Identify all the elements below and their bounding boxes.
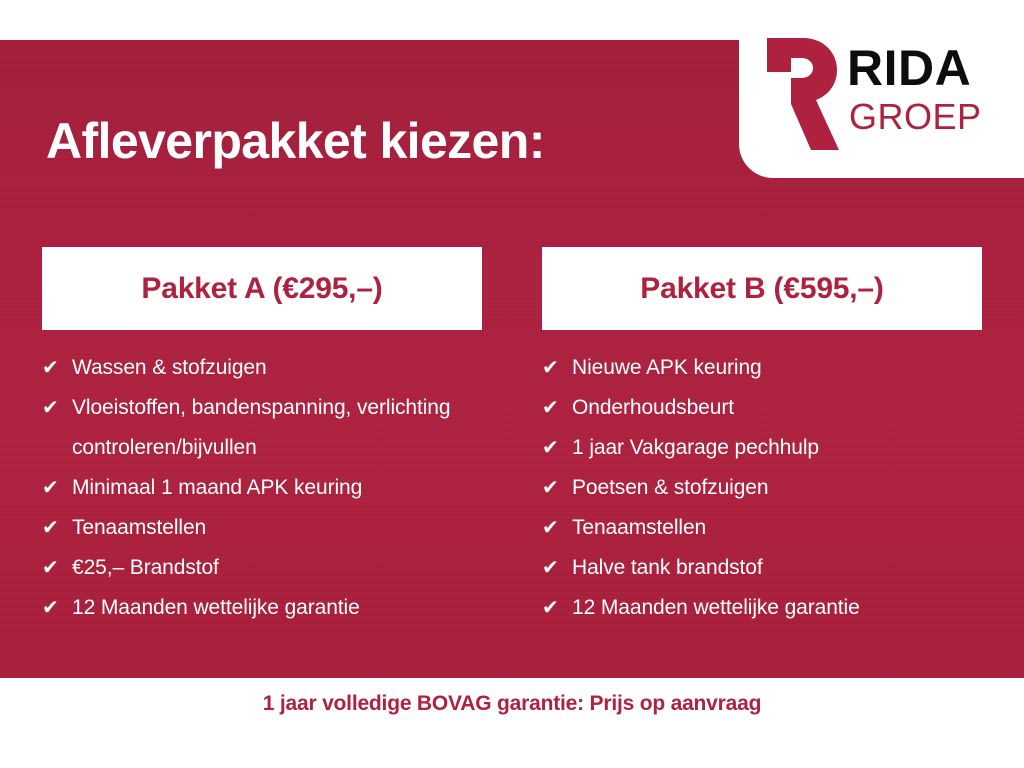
list-item: ✔ Tenaamstellen xyxy=(542,508,982,548)
rida-r-mark-icon xyxy=(753,32,839,150)
package-b-feature-list: ✔ Nieuwe APK keuring ✔ Onderhoudsbeurt ✔… xyxy=(542,330,982,628)
feature-label: Poetsen & stofzuigen xyxy=(572,468,982,508)
list-item: ✔ Poetsen & stofzuigen xyxy=(542,468,982,508)
footer-note: 1 jaar volledige BOVAG garantie: Prijs o… xyxy=(0,692,1024,716)
list-item: ✔ Vloeistoffen, bandenspanning, verlicht… xyxy=(42,388,482,468)
feature-label: Tenaamstellen xyxy=(72,508,482,548)
list-item: ✔ Halve tank brandstof xyxy=(542,548,982,588)
list-item: ✔ 12 Maanden wettelijke garantie xyxy=(542,588,982,628)
check-icon: ✔ xyxy=(542,348,572,388)
brand-wordmark: RIDA GROEP xyxy=(847,43,982,135)
package-b-header: Pakket B (€595,–) xyxy=(542,247,982,330)
footer-band: 1 jaar volledige BOVAG garantie: Prijs o… xyxy=(0,678,1024,768)
package-card-b: Pakket B (€595,–) ✔ Nieuwe APK keuring ✔… xyxy=(542,247,982,628)
list-item: ✔ 1 jaar Vakgarage pechhulp xyxy=(542,428,982,468)
feature-label: Nieuwe APK keuring xyxy=(572,348,982,388)
list-item: ✔ Minimaal 1 maand APK keuring xyxy=(42,468,482,508)
feature-label: Vloeistoffen, bandenspanning, verlichtin… xyxy=(72,388,482,468)
check-icon: ✔ xyxy=(42,468,72,508)
brand-name-secondary: GROEP xyxy=(849,99,982,135)
feature-label: Halve tank brandstof xyxy=(572,548,982,588)
list-item: ✔ Wassen & stofzuigen xyxy=(42,348,482,388)
feature-label: 12 Maanden wettelijke garantie xyxy=(72,588,482,628)
list-item: ✔ Tenaamstellen xyxy=(42,508,482,548)
check-icon: ✔ xyxy=(42,548,72,588)
check-icon: ✔ xyxy=(42,588,72,628)
feature-label: Tenaamstellen xyxy=(572,508,982,548)
feature-label: Wassen & stofzuigen xyxy=(72,348,482,388)
slide-root: RIDA GROEP Afleverpakket kiezen: Pakket … xyxy=(0,0,1024,768)
check-icon: ✔ xyxy=(542,428,572,468)
package-a-header: Pakket A (€295,–) xyxy=(42,247,482,330)
feature-label: 1 jaar Vakgarage pechhulp xyxy=(572,428,982,468)
list-item: ✔ Onderhoudsbeurt xyxy=(542,388,982,428)
check-icon: ✔ xyxy=(42,348,72,388)
check-icon: ✔ xyxy=(542,548,572,588)
check-icon: ✔ xyxy=(542,588,572,628)
feature-label: Minimaal 1 maand APK keuring xyxy=(72,468,482,508)
list-item: ✔ 12 Maanden wettelijke garantie xyxy=(42,588,482,628)
check-icon: ✔ xyxy=(542,508,572,548)
package-a-title: Pakket A (€295,–) xyxy=(141,272,382,306)
check-icon: ✔ xyxy=(542,388,572,428)
brand-name-primary: RIDA xyxy=(847,43,982,93)
brand-logo-panel: RIDA GROEP xyxy=(739,0,1024,178)
page-title: Afleverpakket kiezen: xyxy=(46,112,545,170)
feature-label: 12 Maanden wettelijke garantie xyxy=(572,588,982,628)
feature-label: €25,– Brandstof xyxy=(72,548,482,588)
list-item: ✔ Nieuwe APK keuring xyxy=(542,348,982,388)
list-item: ✔ €25,– Brandstof xyxy=(42,548,482,588)
check-icon: ✔ xyxy=(42,388,72,428)
package-card-a: Pakket A (€295,–) ✔ Wassen & stofzuigen … xyxy=(42,247,482,628)
check-icon: ✔ xyxy=(542,468,572,508)
package-b-title: Pakket B (€595,–) xyxy=(640,272,883,306)
package-a-feature-list: ✔ Wassen & stofzuigen ✔ Vloeistoffen, ba… xyxy=(42,330,482,628)
feature-label: Onderhoudsbeurt xyxy=(572,388,982,428)
check-icon: ✔ xyxy=(42,508,72,548)
